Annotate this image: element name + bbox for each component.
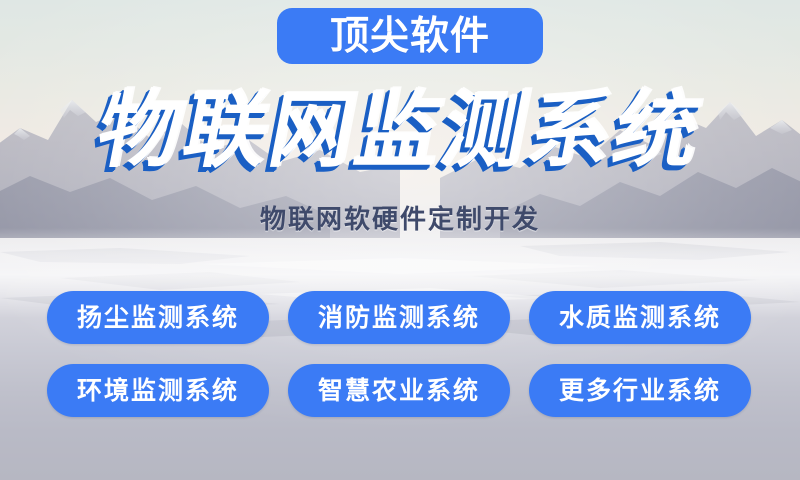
tag-smart-agriculture[interactable]: 智慧农业系统 bbox=[288, 364, 510, 417]
tag-more-industries[interactable]: 更多行业系统 bbox=[529, 364, 751, 417]
tag-label: 水质监测系统 bbox=[559, 305, 721, 330]
tag-label: 扬尘监测系统 bbox=[77, 305, 239, 330]
tag-label: 环境监测系统 bbox=[77, 378, 239, 403]
tag-label: 更多行业系统 bbox=[559, 378, 721, 403]
tag-environment-monitoring[interactable]: 环境监测系统 bbox=[47, 364, 269, 417]
tag-dust-monitoring[interactable]: 扬尘监测系统 bbox=[47, 291, 269, 344]
tag-fire-monitoring[interactable]: 消防监测系统 bbox=[288, 291, 510, 344]
tag-label: 消防监测系统 bbox=[318, 305, 480, 330]
brand-badge: 顶尖软件 bbox=[277, 8, 543, 64]
banner-content: 顶尖软件 物联网监测系统 物联网软硬件定制开发 扬尘监测系统 消防监测系统 水质… bbox=[0, 0, 800, 480]
page-subtitle: 物联网软硬件定制开发 bbox=[0, 205, 800, 236]
tag-water-quality-monitoring[interactable]: 水质监测系统 bbox=[529, 291, 751, 344]
brand-badge-label: 顶尖软件 bbox=[330, 17, 490, 56]
main-title-container: 物联网监测系统 bbox=[0, 88, 800, 172]
tag-label: 智慧农业系统 bbox=[318, 378, 480, 403]
system-tag-list: 扬尘监测系统 消防监测系统 水质监测系统 环境监测系统 智慧农业系统 更多行业系… bbox=[47, 291, 753, 417]
promo-banner: 顶尖软件 物联网监测系统 物联网软硬件定制开发 扬尘监测系统 消防监测系统 水质… bbox=[0, 0, 800, 480]
page-title: 物联网监测系统 bbox=[91, 88, 709, 172]
